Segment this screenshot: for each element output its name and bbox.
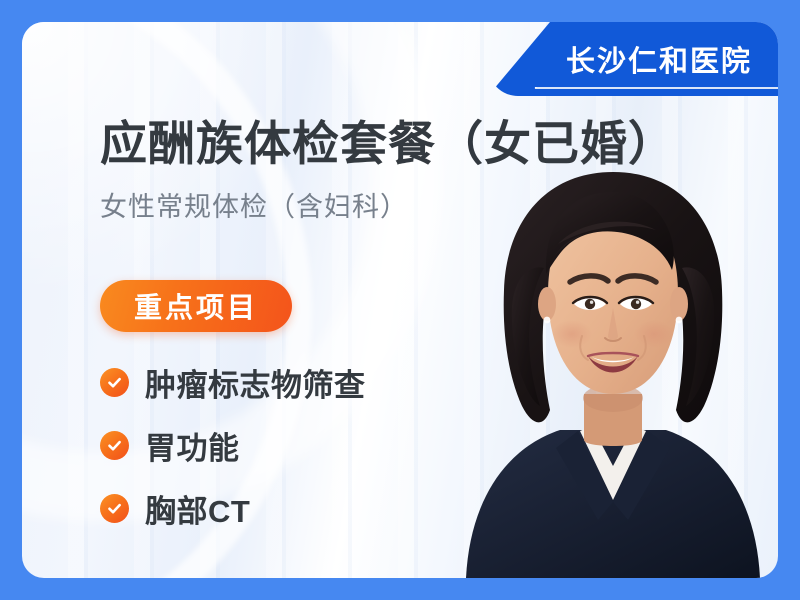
content-block: 应酬族体检套餐（女已婚） 女性常规体检（含妇科） 重点项目 肿瘤标志物筛查 [100,118,676,549]
page-title: 应酬族体检套餐（女已婚） [100,118,676,171]
list-item: 胸部CT [100,486,676,531]
hospital-name-badge: 长沙仁和医院 [488,22,778,96]
check-circle-icon [100,368,129,397]
list-item: 胃功能 [100,423,676,468]
highlight-badge: 重点项目 [100,280,292,332]
check-circle-icon [100,494,129,523]
badge-accent-line [534,87,778,89]
list-item: 肿瘤标志物筛查 [100,360,676,405]
page-subtitle: 女性常规体检（含妇科） [100,185,676,224]
feature-label: 胸部CT [145,486,250,531]
hospital-name-text: 长沙仁和医院 [566,38,752,80]
promo-banner: 长沙仁和医院 应酬族体检套餐（女已婚） 女性常规体检（含妇科） 重点项目 肿瘤标… [0,0,800,600]
feature-label: 肿瘤标志物筛查 [145,360,366,405]
feature-list: 肿瘤标志物筛查 胃功能 胸部CT [100,360,676,531]
feature-label: 胃功能 [145,423,240,468]
banner-inner-panel: 长沙仁和医院 应酬族体检套餐（女已婚） 女性常规体检（含妇科） 重点项目 肿瘤标… [22,22,778,578]
check-circle-icon [100,431,129,460]
